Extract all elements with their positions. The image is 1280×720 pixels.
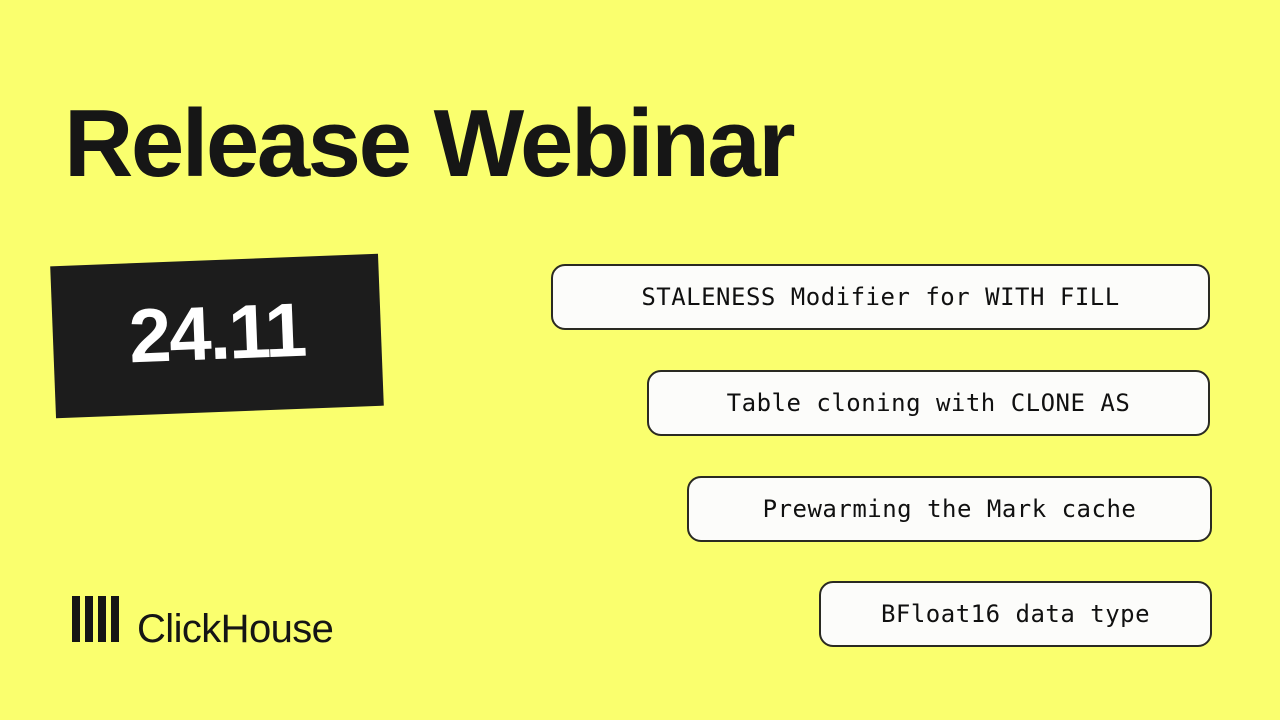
page-title: Release Webinar [64, 96, 793, 192]
feature-pill[interactable]: STALENESS Modifier for WITH FILL [551, 264, 1210, 330]
clickhouse-bars-icon [72, 596, 124, 647]
clickhouse-logo: ClickHouse [72, 596, 333, 647]
clickhouse-wordmark: ClickHouse [137, 609, 333, 649]
feature-pill[interactable]: Table cloning with CLONE AS [647, 370, 1210, 436]
version-badge-label: 24.11 [128, 293, 307, 376]
version-badge: 24.11 [50, 254, 384, 418]
release-webinar-slide: Release Webinar 24.11 STALENESS Modifier… [0, 0, 1280, 720]
feature-pill[interactable]: BFloat16 data type [819, 581, 1212, 647]
feature-pill[interactable]: Prewarming the Mark cache [687, 476, 1212, 542]
